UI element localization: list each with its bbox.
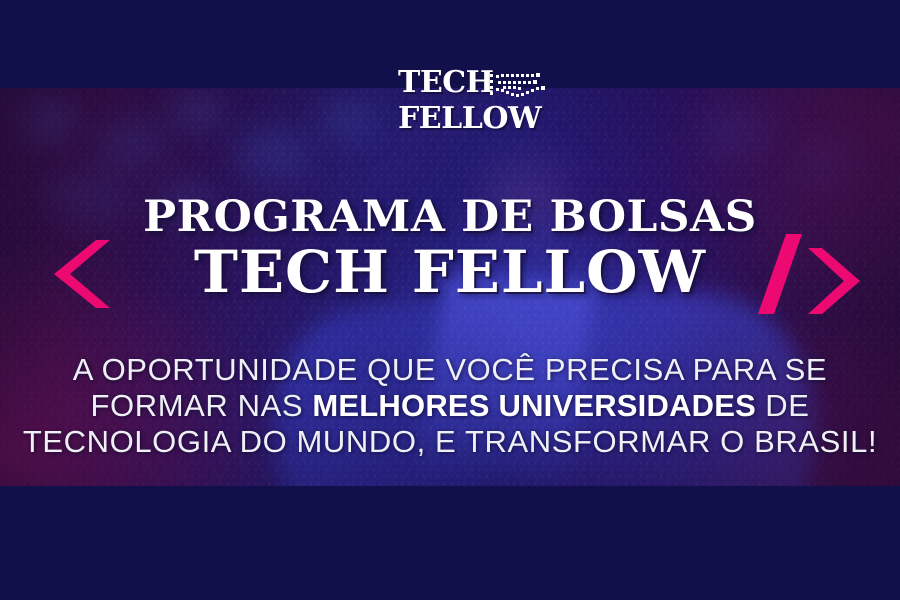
headline-block: PROGRAMA DE BOLSAS TECH FELLOW (0, 196, 900, 301)
dotted-circuit-swoosh-icon (490, 70, 552, 104)
headline-line-2: TECH FELLOW (0, 243, 900, 301)
subheading-block: A OPORTUNIDADE QUE VOCÊ PRECISA PARA SE … (0, 352, 900, 460)
subheading-line-2-prefix: FORMAR NAS (91, 388, 313, 423)
subheading-line-1: A OPORTUNIDADE QUE VOCÊ PRECISA PARA SE (0, 352, 900, 388)
subheading-emphasis: MELHORES UNIVERSIDADES (312, 388, 756, 423)
subheading-line-3: TECNOLOGIA DO MUNDO, E TRANSFORMAR O BRA… (0, 424, 900, 460)
subheading-line-2-suffix: DE (756, 388, 809, 423)
subheading-line-2: FORMAR NAS MELHORES UNIVERSIDADES DE (0, 388, 900, 424)
headline-line-1: PROGRAMA DE BOLSAS (0, 196, 900, 239)
logo-word-fellow: FELLOW (398, 104, 558, 134)
letterbox-band-bottom (0, 486, 900, 600)
tech-fellow-logo: TECH FELLOW (398, 68, 558, 148)
tech-fellow-hero-banner: TECH FELLOW (0, 0, 900, 600)
